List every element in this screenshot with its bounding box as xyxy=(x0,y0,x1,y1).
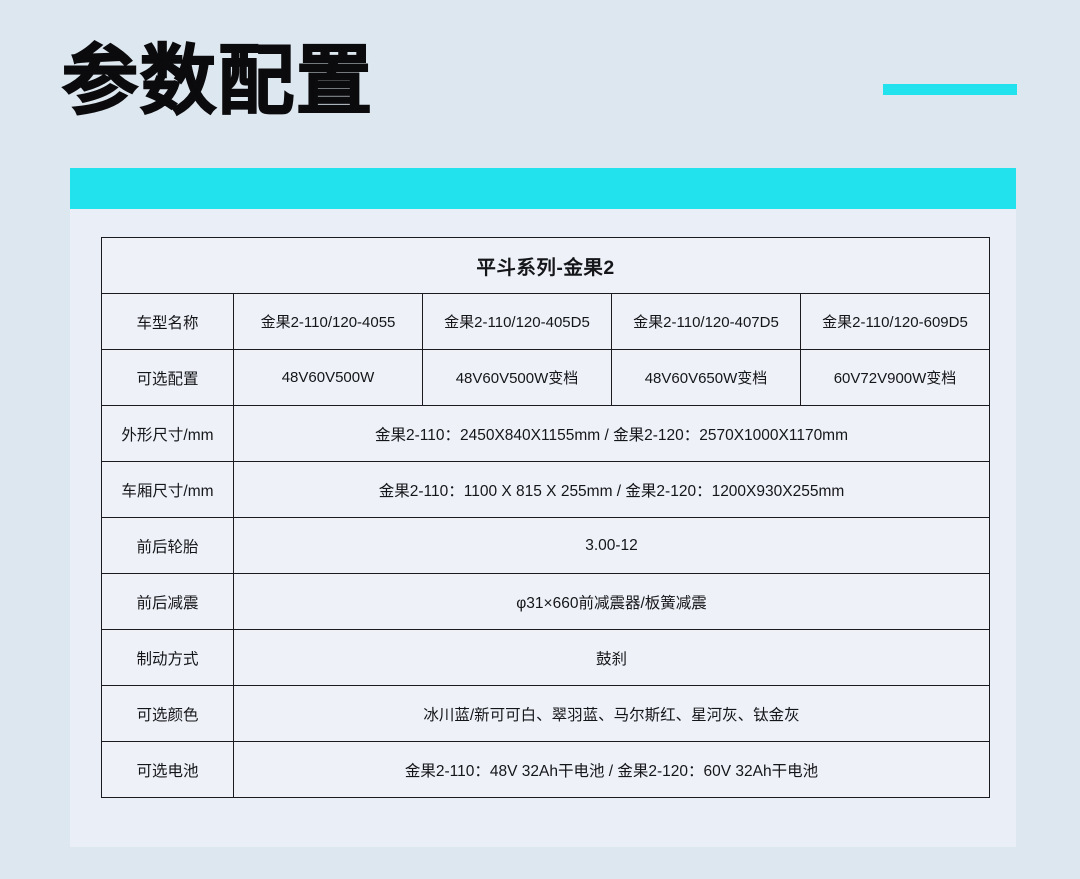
spec-table: 平斗系列-金果2 车型名称 金果2-110/120-4055 金果2-110/1… xyxy=(101,237,990,798)
row-value: φ31×660前减震器/板簧减震 xyxy=(234,574,990,630)
table-row: 车型名称 金果2-110/120-4055 金果2-110/120-405D5 … xyxy=(102,294,990,350)
table-row: 可选配置 48V60V500W 48V60V500W变档 48V60V650W变… xyxy=(102,350,990,406)
row-value: 48V60V650W变档 xyxy=(612,350,801,406)
row-value: 3.00-12 xyxy=(234,518,990,574)
row-label: 制动方式 xyxy=(102,630,234,686)
row-value: 金果2-110/120-405D5 xyxy=(423,294,612,350)
table-row: 前后减震 φ31×660前减震器/板簧减震 xyxy=(102,574,990,630)
row-value: 金果2-110/120-609D5 xyxy=(801,294,990,350)
row-label: 外形尺寸/mm xyxy=(102,406,234,462)
row-value: 金果2-110/120-4055 xyxy=(234,294,423,350)
row-label: 前后轮胎 xyxy=(102,518,234,574)
row-value: 鼓刹 xyxy=(234,630,990,686)
row-value: 金果2-110：2450X840X1155mm / 金果2-120：2570X1… xyxy=(234,406,990,462)
row-value: 冰川蓝/新可可白、翠羽蓝、马尔斯红、星河灰、钛金灰 xyxy=(234,686,990,742)
row-value: 48V60V500W xyxy=(234,350,423,406)
row-label: 可选颜色 xyxy=(102,686,234,742)
page-title: 参数配置 xyxy=(62,36,374,128)
page-header: 参数配置 xyxy=(0,0,1080,168)
table-title-row: 平斗系列-金果2 xyxy=(102,238,990,294)
row-value: 48V60V500W变档 xyxy=(423,350,612,406)
table-row: 外形尺寸/mm 金果2-110：2450X840X1155mm / 金果2-12… xyxy=(102,406,990,462)
table-row: 制动方式 鼓刹 xyxy=(102,630,990,686)
table-row: 可选颜色 冰川蓝/新可可白、翠羽蓝、马尔斯红、星河灰、钛金灰 xyxy=(102,686,990,742)
row-value: 金果2-110：48V 32Ah干电池 / 金果2-120：60V 32Ah干电… xyxy=(234,742,990,798)
panel-topbar xyxy=(70,168,1016,209)
spec-panel: 平斗系列-金果2 车型名称 金果2-110/120-4055 金果2-110/1… xyxy=(70,168,1016,847)
table-row: 前后轮胎 3.00-12 xyxy=(102,518,990,574)
row-label: 可选电池 xyxy=(102,742,234,798)
row-label: 可选配置 xyxy=(102,350,234,406)
spec-table-body: 平斗系列-金果2 车型名称 金果2-110/120-4055 金果2-110/1… xyxy=(102,238,990,798)
table-row: 可选电池 金果2-110：48V 32Ah干电池 / 金果2-120：60V 3… xyxy=(102,742,990,798)
row-value: 金果2-110/120-407D5 xyxy=(612,294,801,350)
row-label: 车厢尺寸/mm xyxy=(102,462,234,518)
table-row: 车厢尺寸/mm 金果2-110：1100 X 815 X 255mm / 金果2… xyxy=(102,462,990,518)
row-value: 60V72V900W变档 xyxy=(801,350,990,406)
table-title: 平斗系列-金果2 xyxy=(102,238,990,294)
row-value: 金果2-110：1100 X 815 X 255mm / 金果2-120：120… xyxy=(234,462,990,518)
accent-bar xyxy=(883,84,1017,95)
row-label: 车型名称 xyxy=(102,294,234,350)
row-label: 前后减震 xyxy=(102,574,234,630)
